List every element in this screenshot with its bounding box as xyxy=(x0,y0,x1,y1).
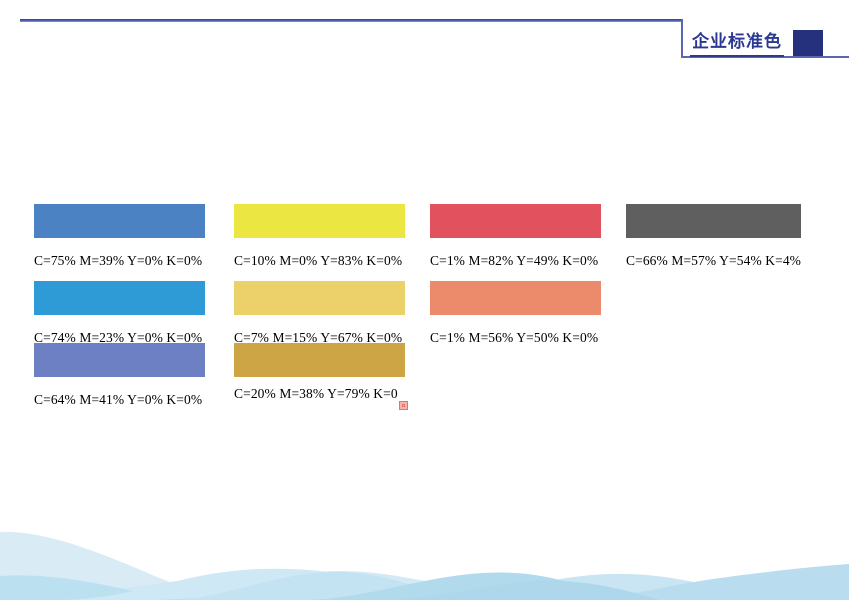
swatch-label: C=1% M=56% Y=50% K=0% xyxy=(430,330,601,346)
swatch-cell-gold-tertiary[interactable]: C=20% M=38% Y=79% K=0 xyxy=(234,343,405,402)
swatch-label: C=64% M=41% Y=0% K=0% xyxy=(34,392,205,408)
swatch-label: C=66% M=57% Y=54% K=4% xyxy=(626,253,801,269)
swatch-yellow-secondary xyxy=(234,281,405,315)
swatch-cell-yellow-secondary[interactable]: C=7% M=15% Y=67% K=0% xyxy=(234,281,405,346)
swatch-blue-tertiary xyxy=(34,343,205,377)
swatch-cell-blue-tertiary[interactable]: C=64% M=41% Y=0% K=0% xyxy=(34,343,205,408)
swatch-gold-tertiary xyxy=(234,343,405,377)
slide-canvas: 企业标准色 C=75% M=39% Y=0% K=0% C=10% M=0% Y… xyxy=(0,0,849,600)
color-swatch-grid: C=75% M=39% Y=0% K=0% C=10% M=0% Y=83% K… xyxy=(0,0,849,600)
swatch-label: C=1% M=82% Y=49% K=0% xyxy=(430,253,601,269)
red-placeholder-marker-icon[interactable] xyxy=(399,401,408,410)
swatch-blue-primary xyxy=(34,204,205,238)
swatch-yellow-primary xyxy=(234,204,405,238)
swatch-cell-yellow-primary[interactable]: C=10% M=0% Y=83% K=0% xyxy=(234,204,405,269)
swatch-salmon-secondary xyxy=(430,281,601,315)
swatch-label: C=10% M=0% Y=83% K=0% xyxy=(234,253,405,269)
swatch-cell-salmon-secondary[interactable]: C=1% M=56% Y=50% K=0% xyxy=(430,281,601,346)
swatch-cell-red-primary[interactable]: C=1% M=82% Y=49% K=0% xyxy=(430,204,601,269)
swatch-gray-primary xyxy=(626,204,801,238)
swatch-red-primary xyxy=(430,204,601,238)
swatch-cell-gray-primary[interactable]: C=66% M=57% Y=54% K=4% xyxy=(626,204,801,269)
swatch-blue-secondary xyxy=(34,281,205,315)
swatch-cell-blue-secondary[interactable]: C=74% M=23% Y=0% K=0% xyxy=(34,281,205,346)
swatch-label: C=75% M=39% Y=0% K=0% xyxy=(34,253,205,269)
swatch-label: C=20% M=38% Y=79% K=0 xyxy=(234,386,405,402)
swatch-cell-blue-primary[interactable]: C=75% M=39% Y=0% K=0% xyxy=(34,204,205,269)
